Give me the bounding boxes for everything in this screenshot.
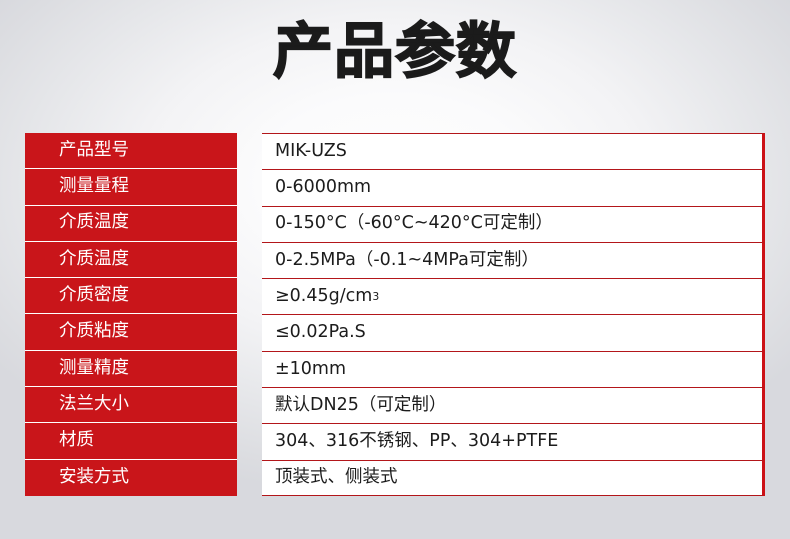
- row-gap: [237, 206, 262, 242]
- row-gap: [237, 351, 262, 387]
- spec-label-text: 产品型号: [59, 142, 203, 160]
- spec-label-cell: 法兰大小: [25, 387, 237, 423]
- spec-value-cell: 304、316不锈钢、PP、304+PTFE: [262, 423, 765, 459]
- spec-value-cell: 顶装式、侧装式: [262, 460, 765, 496]
- spec-value-cell: 默认DN25（可定制）: [262, 387, 765, 423]
- spec-value-cell: ≥0.45g/cm3: [262, 278, 765, 314]
- spec-label-cell: 安装方式: [25, 460, 237, 496]
- spec-label-cell: 材质: [25, 423, 237, 459]
- spec-label-cell: 测量精度: [25, 351, 237, 387]
- table-row: 介质温度 0-2.5MPa（-0.1~4MPa可定制）: [25, 242, 765, 278]
- spec-value-cell: 0-150°C（-60°C~420°C可定制）: [262, 206, 765, 242]
- spec-label-cell: 介质温度: [25, 206, 237, 242]
- page-title: 产品参数: [273, 20, 517, 85]
- table-row: 安装方式 顶装式、侧装式: [25, 460, 765, 496]
- spec-label-cell: 介质粘度: [25, 314, 237, 350]
- spec-label-cell: 介质密度: [25, 278, 237, 314]
- table-row: 材质 304、316不锈钢、PP、304+PTFE: [25, 423, 765, 459]
- spec-value-main: ≥0.45g/cm: [275, 288, 372, 306]
- spec-value-cell: 0-6000mm: [262, 169, 765, 205]
- row-gap: [237, 133, 262, 169]
- table-row: 介质温度 0-150°C（-60°C~420°C可定制）: [25, 206, 765, 242]
- spec-value-cell: ±10mm: [262, 351, 765, 387]
- row-gap: [237, 242, 262, 278]
- spec-label-text: 介质密度: [59, 287, 203, 305]
- spec-label-text: 安装方式: [59, 469, 203, 487]
- table-row: 法兰大小 默认DN25（可定制）: [25, 387, 765, 423]
- spec-label-text: 介质温度: [59, 214, 203, 232]
- spec-label-text: 测量精度: [59, 360, 203, 378]
- spec-label-cell: 测量量程: [25, 169, 237, 205]
- row-gap: [237, 423, 262, 459]
- table-row: 测量量程 0-6000mm: [25, 169, 765, 205]
- table-row: 产品型号 MIK-UZS: [25, 133, 765, 169]
- product-spec-page: 产品参数 产品型号 MIK-UZS 测量量程 0-6000mm 介质温度 0-1…: [0, 0, 790, 539]
- table-row: 介质粘度 ≤0.02Pa.S: [25, 314, 765, 350]
- spec-label-text: 测量量程: [59, 178, 203, 196]
- spec-label-text: 材质: [59, 432, 203, 450]
- spec-value-cell: 0-2.5MPa（-0.1~4MPa可定制）: [262, 242, 765, 278]
- row-gap: [237, 278, 262, 314]
- table-row: 测量精度 ±10mm: [25, 351, 765, 387]
- row-gap: [237, 387, 262, 423]
- spec-table: 产品型号 MIK-UZS 测量量程 0-6000mm 介质温度 0-150°C（…: [25, 133, 765, 496]
- spec-value-cell: ≤0.02Pa.S: [262, 314, 765, 350]
- spec-label-cell: 介质温度: [25, 242, 237, 278]
- table-row: 介质密度 ≥0.45g/cm3: [25, 278, 765, 314]
- spec-label-text: 介质粘度: [59, 323, 203, 341]
- row-gap: [237, 460, 262, 496]
- spec-label-text: 法兰大小: [59, 396, 203, 414]
- title-area: 产品参数: [0, 20, 790, 85]
- spec-label-cell: 产品型号: [25, 133, 237, 169]
- spec-label-text: 介质温度: [59, 251, 203, 269]
- row-gap: [237, 169, 262, 205]
- spec-value-cell: MIK-UZS: [262, 133, 765, 169]
- row-gap: [237, 314, 262, 350]
